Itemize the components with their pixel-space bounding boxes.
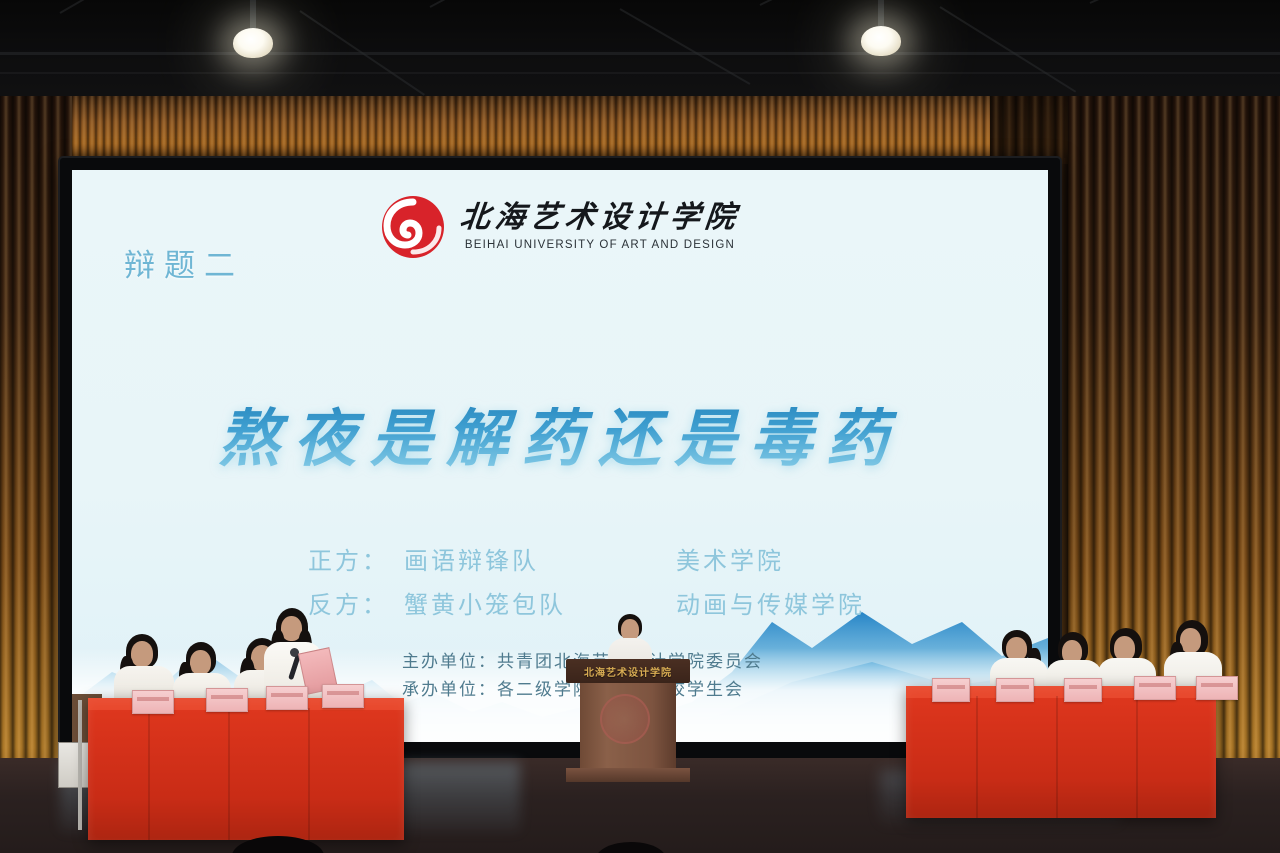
ceiling-light-bulb (861, 26, 901, 56)
school-logo-text: 北海艺术设计学院 BEIHAI UNIVERSITY OF ART AND DE… (460, 203, 740, 251)
spiral-logo-icon (380, 194, 446, 260)
team-college: 动画与传媒学院 (676, 584, 908, 628)
ceiling-truss (430, 0, 572, 8)
podium-seal-icon (600, 694, 650, 744)
table-cloth-fold (148, 708, 150, 840)
topic-label: 辩题二 (124, 240, 244, 285)
affirmative-team-table (88, 698, 404, 840)
ceiling-truss (939, 6, 1076, 92)
head (190, 650, 211, 675)
school-name-cn: 北海艺术设计学院 (458, 203, 741, 233)
table-cloth-fold (1136, 696, 1138, 818)
ceiling-light-bulb (233, 28, 273, 58)
school-logo: 北海艺术设计学院 BEIHAI UNIVERSITY OF ART AND DE… (380, 194, 740, 260)
name-card (266, 686, 308, 710)
auditorium-stage-scene: 北海艺术设计学院 BEIHAI UNIVERSITY OF ART AND DE… (0, 0, 1280, 853)
name-card (996, 678, 1034, 702)
debate-title: 熬夜是解药还是毒药 (72, 388, 1048, 478)
ceiling-truss (1090, 0, 1237, 4)
table-cloth-fold (308, 708, 310, 840)
ceiling-truss (760, 0, 914, 6)
equipment-stand-leg (78, 700, 82, 830)
ceiling-truss (60, 0, 208, 14)
ceiling-truss (0, 72, 1280, 74)
table-cloth-fold (228, 708, 230, 840)
team-side-label: 正方： (308, 540, 404, 584)
team-college: 美术学院 (676, 540, 908, 584)
name-card (1134, 676, 1176, 700)
table-cloth-fold (976, 696, 978, 818)
school-name-en: BEIHAI UNIVERSITY OF ART AND DESIGN (465, 239, 735, 251)
podium-nameplate: 北海艺术设计学院 (566, 659, 690, 683)
name-card (1064, 678, 1102, 702)
ceiling-truss (0, 52, 1280, 55)
podium-base (566, 768, 690, 782)
name-card (132, 690, 174, 714)
name-card (932, 678, 970, 702)
head (131, 641, 153, 667)
table-cloth-fold (1056, 696, 1058, 818)
team-name: 画语辩锋队 (404, 540, 676, 584)
name-card (322, 684, 364, 708)
team-row: 正方： 画语辩锋队 美术学院 (308, 540, 908, 584)
name-card (206, 688, 248, 712)
podium-plate-text: 北海艺术设计学院 (584, 664, 672, 679)
name-card (1196, 676, 1238, 700)
negative-team-table (906, 686, 1216, 818)
